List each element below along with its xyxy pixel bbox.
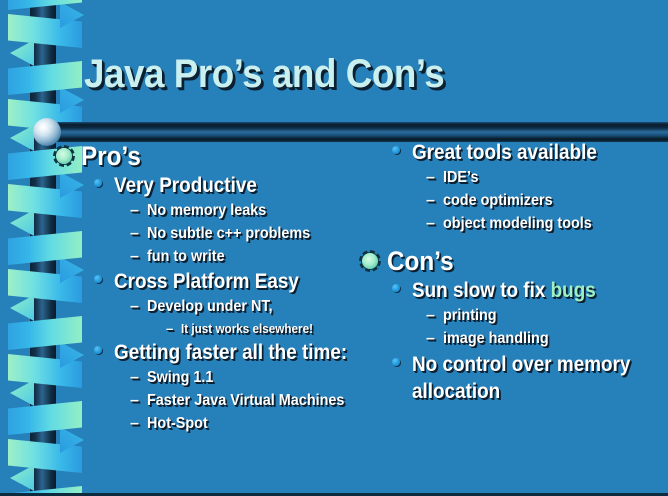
dash-bullet-icon: –: [426, 328, 435, 349]
dash-bullet-icon: –: [130, 367, 139, 388]
dash-bullet-icon: –: [130, 200, 139, 221]
list-item: Getting faster all the time:: [56, 340, 386, 365]
dash-bullet-icon: –: [130, 223, 139, 244]
list-item: – image handling: [360, 328, 668, 349]
dash-bullet-icon: –: [426, 190, 435, 211]
ribbon-fold: [10, 125, 34, 151]
ribbon-fold: [10, 40, 34, 66]
ribbon-fold: [10, 380, 34, 406]
list-item: – object modeling tools: [360, 213, 668, 234]
dot-bullet-icon: [392, 146, 400, 154]
right-heading: Con’s: [360, 245, 668, 277]
dash-bullet-icon: –: [426, 167, 435, 188]
list-item: – Faster Java Virtual Machines: [56, 390, 386, 411]
slide-title: Java Pro’s and Con’s: [84, 52, 444, 97]
list-item: – code optimizers: [360, 190, 668, 211]
right-content-column: Great tools available – IDE’s – code opt…: [360, 140, 668, 407]
title-divider-bar: [48, 122, 668, 142]
dash-bullet-icon: –: [426, 213, 435, 234]
ribbon-fold: [10, 210, 34, 236]
list-item: – Swing 1.1: [56, 367, 386, 388]
list-item: – No memory leaks: [56, 200, 386, 221]
dash-bullet-icon: –: [130, 246, 139, 267]
list-item-text: Sun slow to fix: [412, 279, 551, 302]
gear-bullet-icon: [56, 148, 72, 164]
ribbon-fold: [10, 295, 34, 321]
dash-bullet-icon: –: [130, 413, 139, 434]
list-item: Cross Platform Easy: [56, 269, 386, 294]
dot-bullet-icon: [94, 275, 102, 283]
ribbon-segment: [8, 61, 82, 95]
dash-bullet-icon: –: [130, 296, 139, 317]
dot-bullet-icon: [392, 284, 400, 292]
highlighted-word: bugs: [551, 279, 596, 302]
list-item: Great tools available: [360, 140, 668, 165]
list-item: – IDE’s: [360, 167, 668, 188]
list-item: – fun to write: [56, 246, 386, 267]
dash-bullet-icon: –: [166, 319, 173, 338]
list-item: – It just works elsewhere!: [56, 319, 386, 338]
ribbon-fold: [10, 465, 34, 491]
slide-canvas: Java Pro’s and Con’s Pro’s Very Producti…: [0, 0, 668, 496]
dot-bullet-icon: [392, 358, 400, 366]
list-item: Very Productive: [56, 173, 386, 198]
list-item: – Develop under NT,: [56, 296, 386, 317]
list-item: Sun slow to fix bugs: [360, 278, 668, 303]
gear-bullet-icon: [362, 253, 378, 269]
dot-bullet-icon: [94, 179, 102, 187]
dot-bullet-icon: [94, 346, 102, 354]
dash-bullet-icon: –: [426, 305, 435, 326]
list-item: – No subtle c++ problems: [56, 223, 386, 244]
left-content-column: Pro’s Very Productive – No memory leaks …: [56, 140, 386, 436]
left-heading: Pro’s: [56, 140, 386, 172]
dash-bullet-icon: –: [130, 390, 139, 411]
spacer: [360, 236, 668, 245]
list-item: No control over memory allocation: [360, 351, 668, 405]
list-item-label: Sun slow to fix bugs: [412, 278, 596, 303]
list-item: – printing: [360, 305, 668, 326]
list-item: – Hot-Spot: [56, 413, 386, 434]
